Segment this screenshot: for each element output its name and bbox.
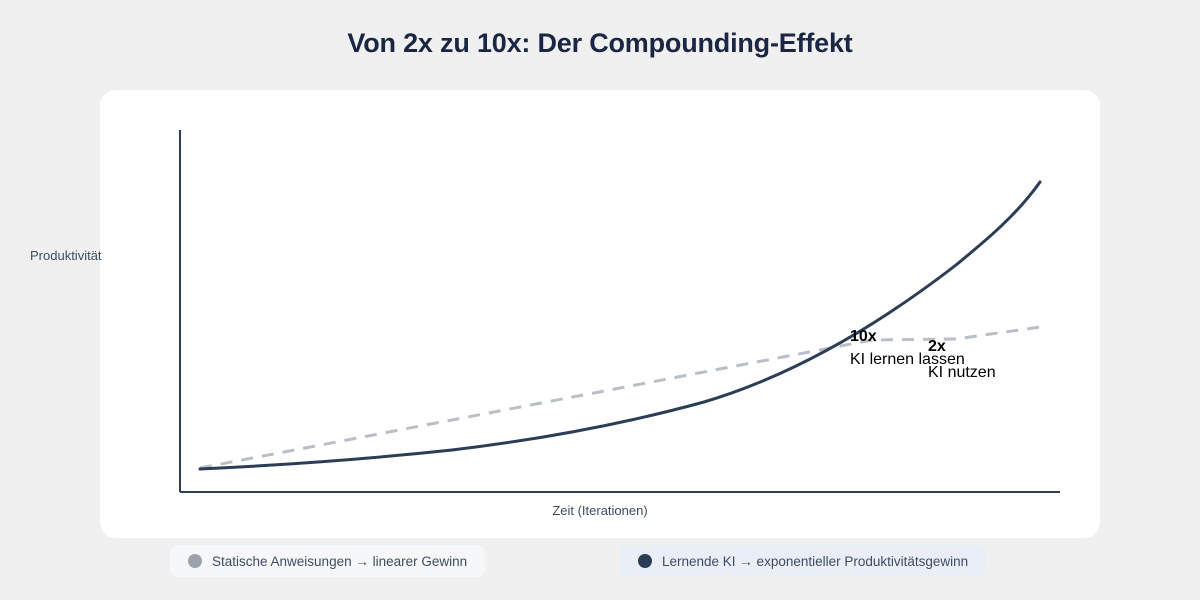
- y-axis-label: Produktivität: [30, 248, 102, 263]
- legend-dot-icon-static: [188, 554, 202, 568]
- annotation-linear-value: 2x: [928, 339, 946, 355]
- annotation-linear-caption: KI nutzen: [928, 365, 996, 381]
- legend-item-static[interactable]: Statische Anweisungen → linearer Gewinn: [170, 545, 485, 577]
- series-line-linear: [200, 327, 1040, 468]
- legend-label-learning: Lernende KI → exponentieller Produktivit…: [662, 554, 968, 569]
- series-line-exponential: [200, 182, 1040, 469]
- chart-page: Von 2x zu 10x: Der Compounding-Effekt Pr…: [0, 0, 1200, 600]
- chart-card: [100, 90, 1100, 538]
- legend-dot-icon-learning: [638, 554, 652, 568]
- plot-area: [100, 90, 1100, 538]
- chart-svg: [100, 90, 1100, 538]
- annotation-exponential-value: 10x: [850, 329, 877, 345]
- chart-legend: Statische Anweisungen → linearer Gewinn …: [0, 545, 1200, 579]
- legend-item-learning[interactable]: Lernende KI → exponentieller Produktivit…: [620, 545, 986, 577]
- x-axis-label: Zeit (Iterationen): [0, 503, 1200, 518]
- legend-label-static: Statische Anweisungen → linearer Gewinn: [212, 554, 467, 569]
- page-title: Von 2x zu 10x: Der Compounding-Effekt: [0, 25, 1200, 61]
